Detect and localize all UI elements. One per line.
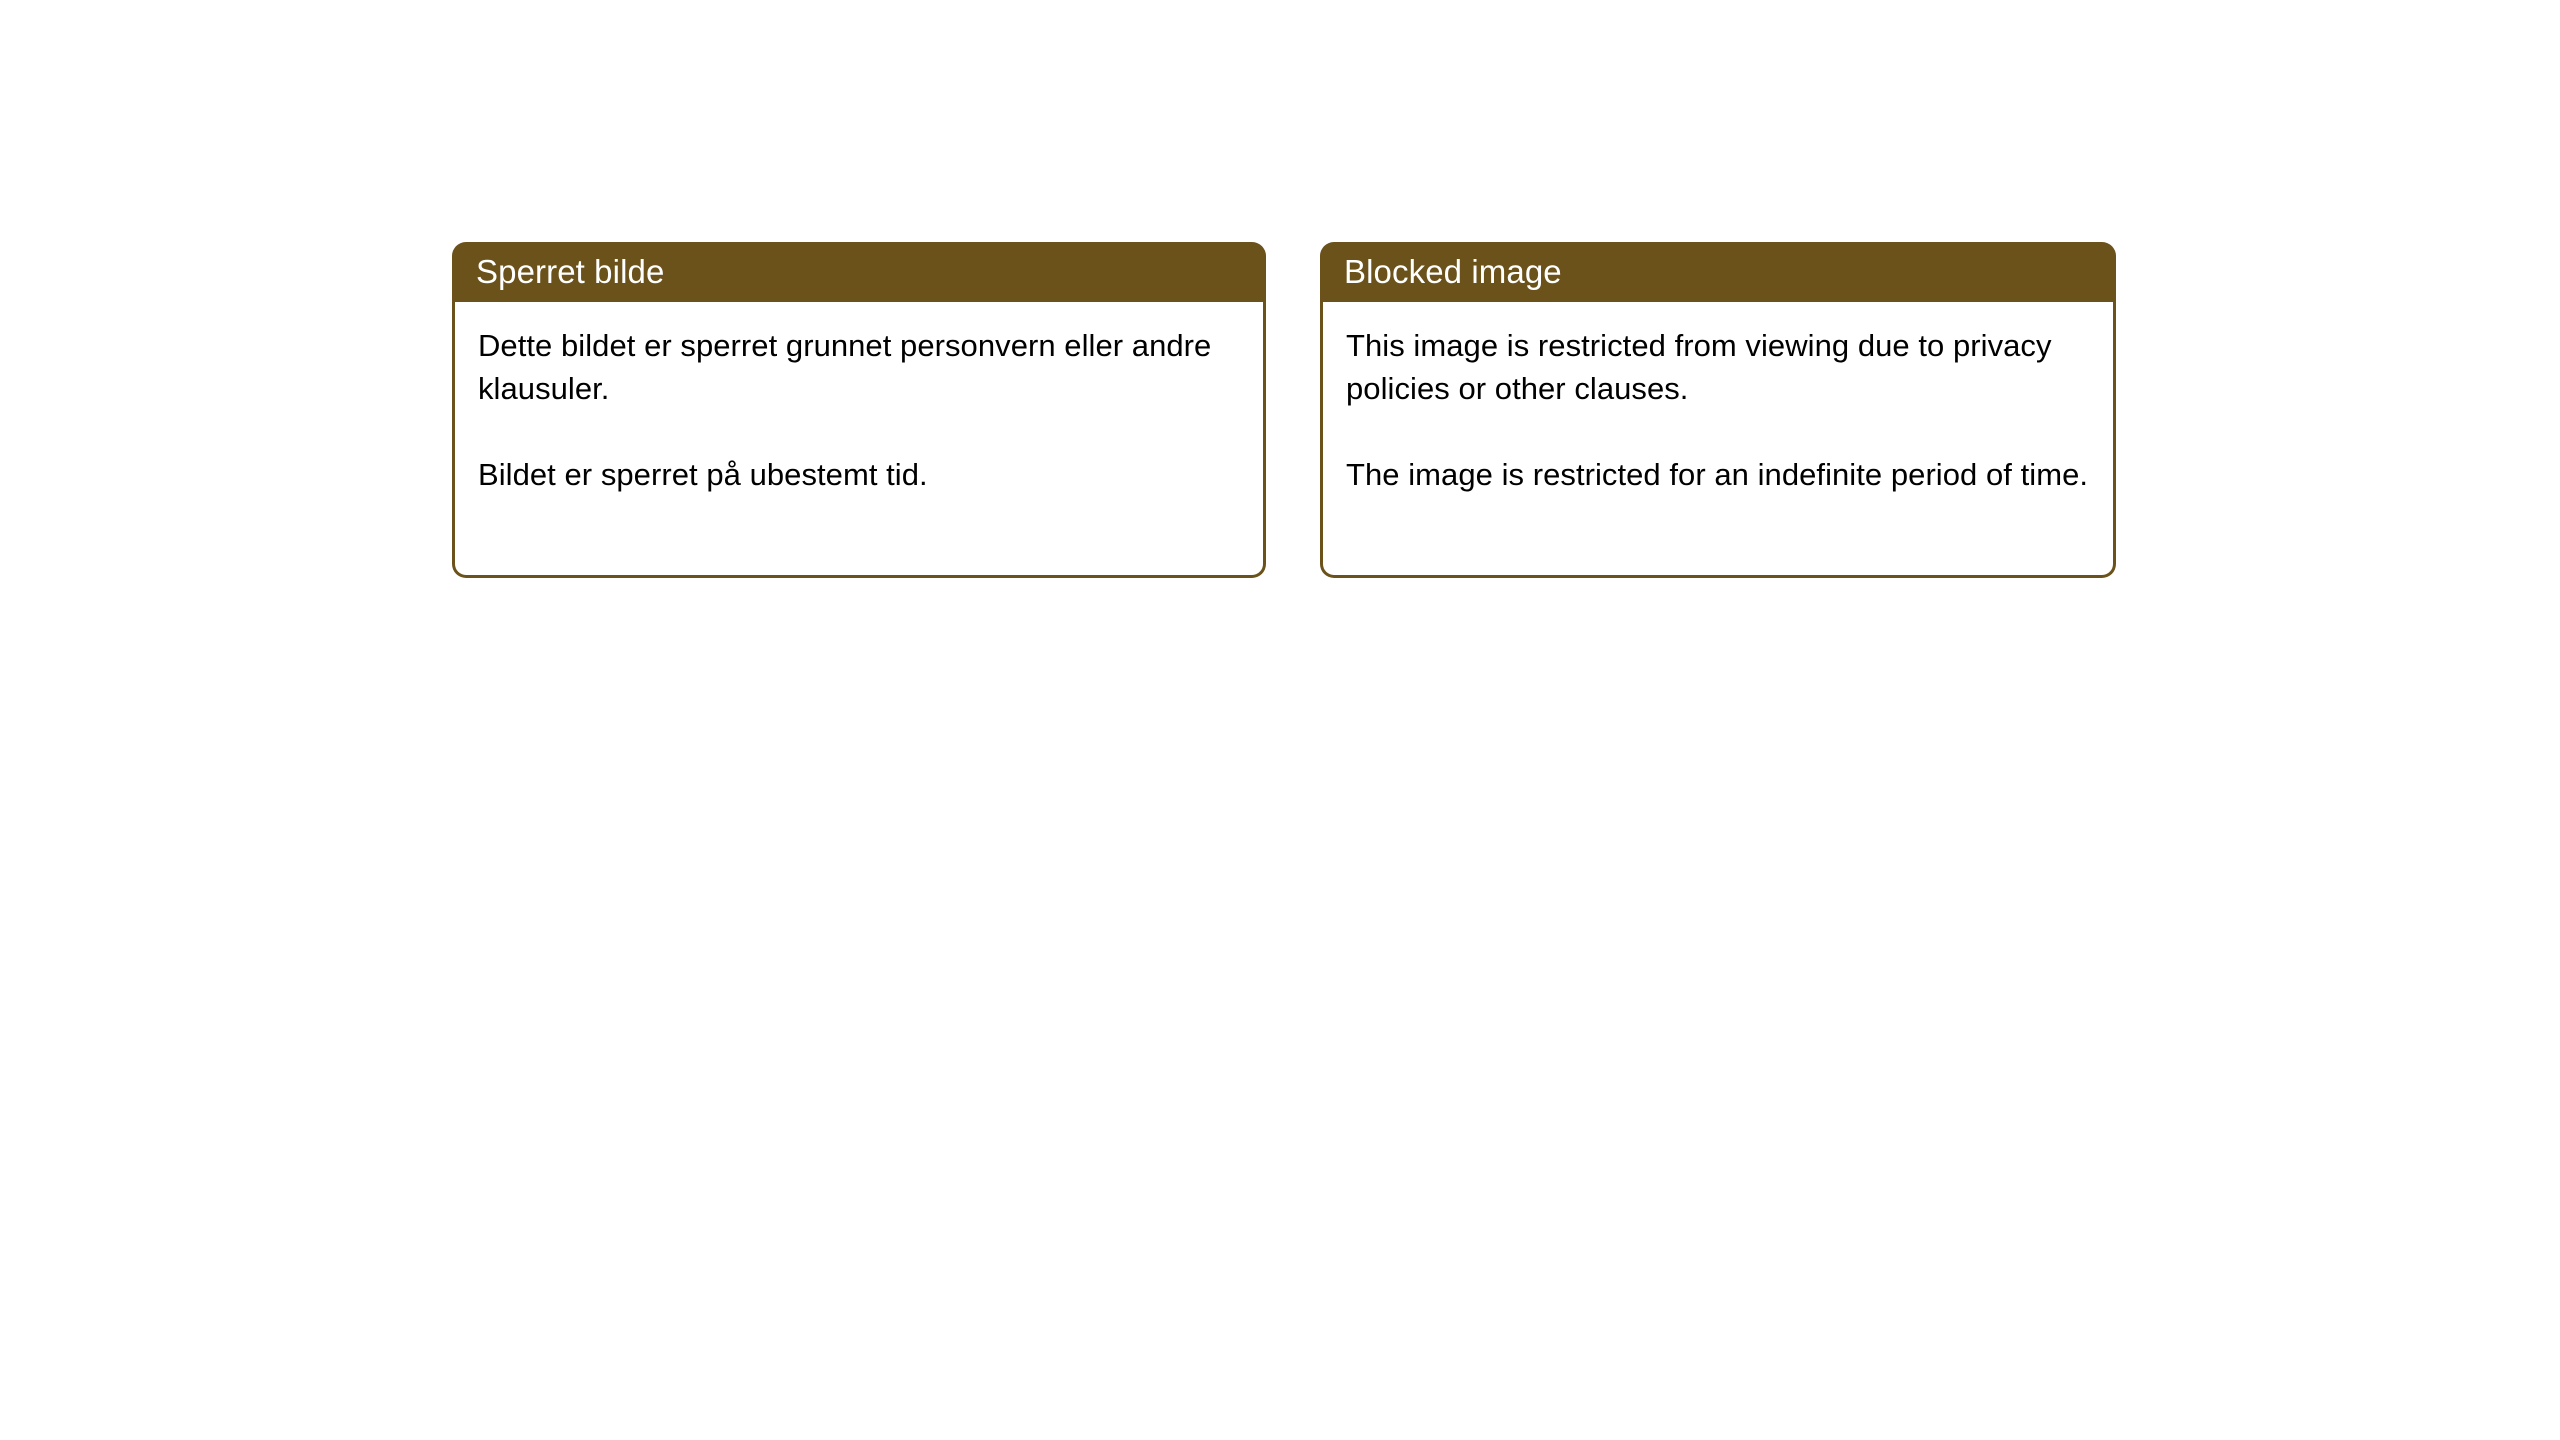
- card-body-norwegian: Dette bildet er sperret grunnet personve…: [452, 302, 1266, 578]
- card-paragraph-primary-english: This image is restricted from viewing du…: [1346, 324, 2095, 410]
- card-title-english: Blocked image: [1344, 254, 1562, 290]
- card-body-english: This image is restricted from viewing du…: [1320, 302, 2116, 578]
- blocked-image-notice-card-norwegian: Sperret bilde Dette bildet er sperret gr…: [452, 242, 1266, 578]
- card-header-english: Blocked image: [1320, 242, 2116, 302]
- card-paragraph-secondary-english: The image is restricted for an indefinit…: [1346, 453, 2095, 496]
- paragraph-spacer-english: [1346, 410, 2095, 453]
- paragraph-spacer-norwegian: [478, 410, 1245, 453]
- card-title-norwegian: Sperret bilde: [476, 254, 664, 290]
- card-paragraph-primary-norwegian: Dette bildet er sperret grunnet personve…: [478, 324, 1245, 410]
- blocked-image-notice-card-english: Blocked image This image is restricted f…: [1320, 242, 2116, 578]
- page-canvas: Sperret bilde Dette bildet er sperret gr…: [0, 0, 2560, 1440]
- card-header-norwegian: Sperret bilde: [452, 242, 1266, 302]
- card-paragraph-secondary-norwegian: Bildet er sperret på ubestemt tid.: [478, 453, 1245, 496]
